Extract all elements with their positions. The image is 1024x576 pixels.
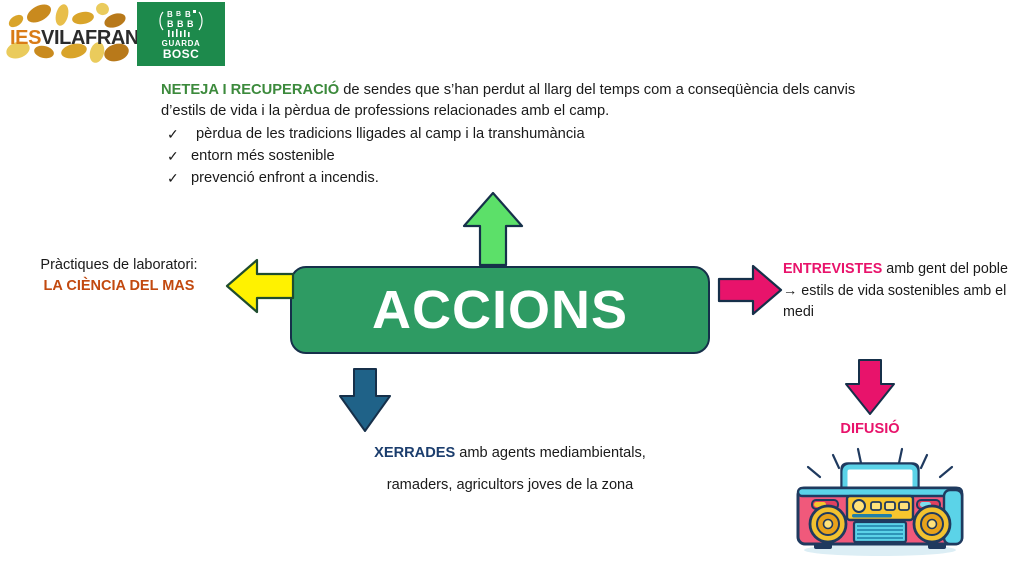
arrow-down-blue bbox=[336, 366, 394, 434]
almond-shape bbox=[94, 1, 110, 17]
list-item-label: entorn més sostenible bbox=[191, 148, 335, 164]
right-branch-label: ENTREVISTES amb gent del poble → estils … bbox=[783, 259, 1018, 324]
arrow-right-pink bbox=[716, 262, 784, 318]
ies-wordmark-ies: IES bbox=[10, 27, 41, 49]
boombox-radio-svg bbox=[784, 444, 976, 560]
right-branch-text: ENTREVISTES amb gent del poble → estils … bbox=[783, 259, 1018, 324]
arrow-left-yellow bbox=[224, 256, 296, 316]
accions-center-node: ACCIONS bbox=[290, 266, 710, 354]
intro-bullet-list: ✓pèrdua de les tradicions lligades al ca… bbox=[161, 123, 891, 189]
svg-text:B: B bbox=[167, 19, 174, 29]
svg-text:B: B bbox=[185, 10, 191, 19]
svg-text:B: B bbox=[167, 10, 173, 19]
svg-text:B: B bbox=[187, 19, 194, 29]
check-icon: ✓ bbox=[167, 167, 179, 189]
right-branch-highlight: ENTREVISTES bbox=[783, 261, 882, 277]
almond-shape bbox=[54, 3, 71, 27]
arrow-up-green bbox=[460, 190, 526, 268]
almond-shape bbox=[24, 1, 54, 26]
accions-label: ACCIONS bbox=[372, 283, 628, 337]
intro-paragraph: NETEJA I RECUPERACIÓ de sendes que s’han… bbox=[161, 80, 891, 122]
difusio-label: DIFUSIÓ bbox=[780, 421, 960, 437]
bottom-branch-line2: ramaders, agricultors joves de la zona bbox=[300, 469, 720, 501]
ies-vilafranca-logo: IESVILAFRANCA bbox=[4, 2, 134, 66]
boombox-radio-icon bbox=[784, 444, 976, 560]
guarda-bosc-emblem-icon: B B B B B B bbox=[158, 8, 204, 38]
list-item-label: prevenció enfront a incendis. bbox=[191, 170, 379, 186]
check-icon: ✓ bbox=[167, 123, 179, 145]
bottom-branch-line1: XERRADES amb agents mediambientals, bbox=[300, 437, 720, 469]
bottom-branch-label: XERRADES amb agents mediambientals, rama… bbox=[300, 437, 720, 501]
arrow-down-pink bbox=[843, 357, 897, 417]
bottom-branch-rest: amb agents mediambientals, bbox=[455, 445, 646, 461]
check-icon: ✓ bbox=[167, 145, 179, 167]
intro-text-block: NETEJA I RECUPERACIÓ de sendes que s’han… bbox=[161, 80, 891, 189]
bottom-branch-highlight: XERRADES bbox=[374, 445, 455, 461]
list-item: ✓entorn més sostenible bbox=[161, 145, 891, 167]
left-branch-line1: Pràctiques de laboratori: bbox=[14, 255, 224, 276]
list-item-label: pèrdua de les tradicions lligades al cam… bbox=[196, 126, 585, 142]
svg-text:B: B bbox=[176, 11, 181, 18]
intro-heading-highlight: NETEJA I RECUPERACIÓ bbox=[161, 82, 339, 98]
almond-shape bbox=[71, 10, 95, 26]
list-item: ✓pèrdua de les tradicions lligades al ca… bbox=[161, 123, 891, 145]
emblem-svg: B B B B B B bbox=[158, 8, 204, 38]
svg-text:B: B bbox=[177, 19, 184, 29]
left-branch-label: Pràctiques de laboratori: LA CIÈNCIA DEL… bbox=[14, 255, 224, 297]
logo-bar: IESVILAFRANCA B B B B B B bbox=[0, 0, 1024, 68]
list-item: ✓prevenció enfront a incendis. bbox=[161, 167, 891, 189]
left-branch-line2: LA CIÈNCIA DEL MAS bbox=[14, 276, 224, 297]
guarda-bosc-line2: BOSC bbox=[163, 48, 199, 61]
guarda-bosc-logo: B B B B B B GUARDA BOSC bbox=[137, 2, 225, 66]
